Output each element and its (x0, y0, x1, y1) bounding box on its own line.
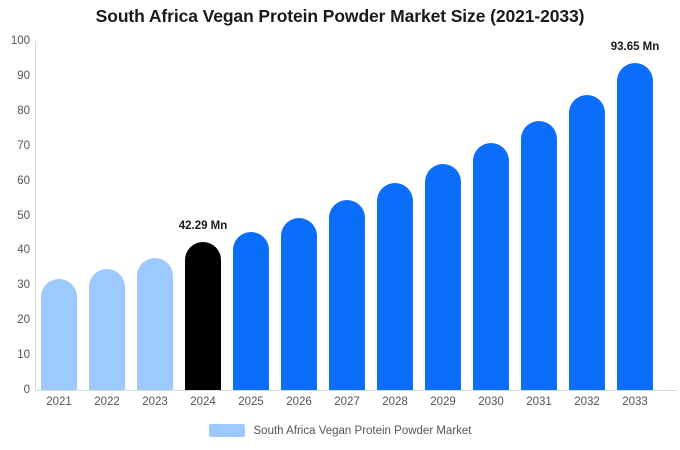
y-axis-tick-label: 90 (2, 70, 30, 82)
bar-2023[interactable] (137, 258, 173, 390)
chart-container: South Africa Vegan Protein Powder Market… (0, 0, 680, 450)
x-axis-tick-label-2024: 2024 (190, 396, 216, 408)
x-axis-tick-label-2026: 2026 (286, 396, 312, 408)
x-axis-tick-label-2025: 2025 (238, 396, 264, 408)
x-axis-line (35, 390, 677, 391)
bar-2029[interactable] (425, 164, 461, 390)
x-axis-tick-label-2029: 2029 (430, 396, 456, 408)
bar-2025[interactable] (233, 232, 269, 390)
bar-2022[interactable] (89, 269, 125, 390)
x-axis-tick-label-2030: 2030 (478, 396, 504, 408)
x-axis-tick-label-2022: 2022 (94, 396, 120, 408)
y-axis-tick-label: 70 (2, 140, 30, 152)
bar-2032[interactable] (569, 95, 605, 390)
bar-2031[interactable] (521, 121, 557, 390)
y-axis-line (35, 41, 36, 390)
y-axis-tick-label: 60 (2, 175, 30, 187)
bar-2024[interactable] (185, 242, 221, 390)
bar-2027[interactable] (329, 200, 365, 390)
y-axis-tick-label: 10 (2, 349, 30, 361)
y-axis-tick-label: 100 (2, 35, 30, 47)
y-axis-tick-label: 50 (2, 210, 30, 222)
y-axis-tick-label: 0 (2, 384, 30, 396)
y-axis-tick-label: 80 (2, 105, 30, 117)
legend-swatch (209, 424, 245, 437)
x-axis-tick-label-2023: 2023 (142, 396, 168, 408)
chart-legend: South Africa Vegan Protein Powder Market (0, 424, 680, 437)
y-axis-tick-label: 30 (2, 279, 30, 291)
x-axis-tick-label-2032: 2032 (574, 396, 600, 408)
x-axis-tick-label-2028: 2028 (382, 396, 408, 408)
bar-2033[interactable] (617, 63, 653, 390)
x-axis-tick-label-2033: 2033 (622, 396, 648, 408)
x-axis-tick-label-2027: 2027 (334, 396, 360, 408)
bar-2021[interactable] (41, 279, 77, 390)
bar-2026[interactable] (281, 218, 317, 390)
x-axis-tick-label-2031: 2031 (526, 396, 552, 408)
plot-area: 0102030405060708090100 42.29 Mn93.65 Mn … (0, 0, 680, 450)
bar-2028[interactable] (377, 183, 413, 390)
bar-2030[interactable] (473, 143, 509, 390)
x-axis-tick-label-2021: 2021 (46, 396, 72, 408)
bar-value-label-2033: 93.65 Mn (611, 41, 660, 53)
y-axis-tick-label: 40 (2, 244, 30, 256)
y-axis-tick-label: 20 (2, 314, 30, 326)
legend-label: South Africa Vegan Protein Powder Market (254, 425, 472, 437)
bar-value-label-2024: 42.29 Mn (179, 220, 228, 232)
